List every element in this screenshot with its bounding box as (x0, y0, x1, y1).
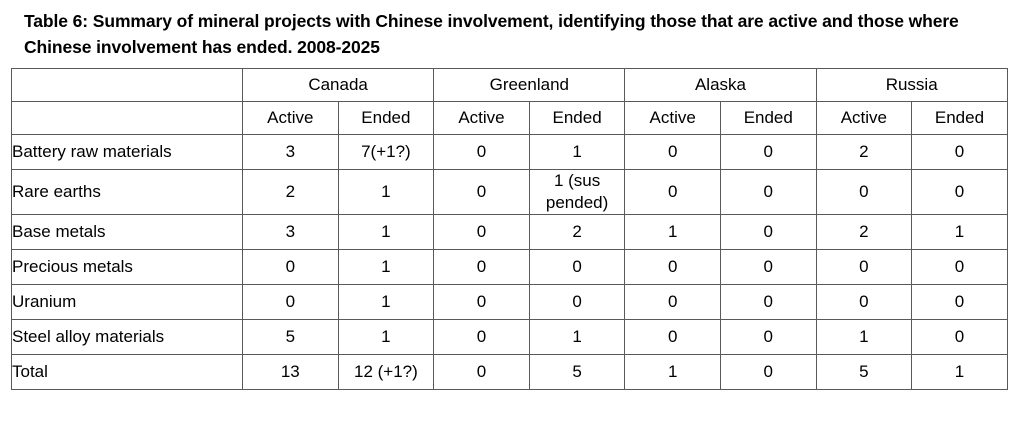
table-row: Base metals 3 1 0 2 1 0 2 1 (12, 215, 1008, 250)
cell-value: 1 (625, 361, 720, 383)
cell-value: 0 (434, 326, 529, 348)
cell-value: 0 (434, 181, 529, 203)
cell-value: 0 (817, 181, 912, 203)
cell-preciousmetals-canada-active: 0 (243, 250, 339, 285)
cell-uranium-canada-active: 0 (243, 285, 339, 320)
cell-battery-greenland-active: 0 (434, 135, 530, 170)
cell-value: 1 (912, 221, 1007, 243)
cell-value: 1 (625, 221, 720, 243)
cell-value: 1 (339, 291, 434, 313)
header-greenland-active: Active (434, 102, 530, 135)
cell-value: 0 (912, 181, 1007, 203)
cell-value: 0 (721, 291, 816, 313)
cell-value: 5 (530, 361, 625, 383)
cell-uranium-alaska-active: 0 (625, 285, 721, 320)
cell-value: 0 (817, 291, 912, 313)
cell-value: 0 (721, 221, 816, 243)
cell-preciousmetals-greenland-ended: 0 (529, 250, 625, 285)
header-region-canada: Canada (243, 69, 434, 102)
cell-value: 0 (625, 256, 720, 278)
cell-value: 1 (530, 326, 625, 348)
cell-value: 13 (243, 361, 338, 383)
header-alaska-active: Active (625, 102, 721, 135)
cell-uranium-alaska-ended: 0 (720, 285, 816, 320)
cell-basemetals-russia-active: 2 (816, 215, 912, 250)
header-corner-bottom (12, 102, 243, 135)
cell-value: 2 (817, 141, 912, 163)
cell-total-alaska-ended: 0 (720, 355, 816, 390)
cell-value: 3 (243, 221, 338, 243)
cell-steelalloy-greenland-ended: 1 (529, 320, 625, 355)
header-canada-ended: Ended (338, 102, 434, 135)
cell-value: 1 (sus pended) (530, 170, 625, 214)
cell-value: 0 (434, 256, 529, 278)
cell-basemetals-russia-ended: 1 (912, 215, 1008, 250)
cell-steelalloy-greenland-active: 0 (434, 320, 530, 355)
cell-preciousmetals-alaska-active: 0 (625, 250, 721, 285)
cell-rareearths-russia-ended: 0 (912, 170, 1008, 215)
cell-basemetals-alaska-ended: 0 (720, 215, 816, 250)
cell-value: 0 (434, 141, 529, 163)
cell-steelalloy-alaska-ended: 0 (720, 320, 816, 355)
cell-uranium-canada-ended: 1 (338, 285, 434, 320)
cell-total-russia-active: 5 (816, 355, 912, 390)
header-alaska-ended: Ended (720, 102, 816, 135)
row-label-total: Total (12, 355, 243, 390)
cell-value: 2 (530, 221, 625, 243)
cell-value: 0 (721, 361, 816, 383)
header-region-greenland: Greenland (434, 69, 625, 102)
cell-value: 0 (530, 256, 625, 278)
cell-value: 0 (243, 256, 338, 278)
cell-uranium-greenland-ended: 0 (529, 285, 625, 320)
table-row: Uranium 0 1 0 0 0 0 0 0 (12, 285, 1008, 320)
cell-value: 0 (625, 326, 720, 348)
cell-value: 0 (912, 141, 1007, 163)
table-row: Battery raw materials 3 7(+1?) 0 1 0 0 2… (12, 135, 1008, 170)
cell-total-canada-ended: 12 (+1?) (338, 355, 434, 390)
header-corner-top (12, 69, 243, 102)
cell-value: 0 (530, 291, 625, 313)
row-label-rare-earths: Rare earths (12, 170, 243, 215)
cell-value: 0 (912, 326, 1007, 348)
cell-battery-canada-active: 3 (243, 135, 339, 170)
cell-rareearths-canada-ended: 1 (338, 170, 434, 215)
cell-value: 5 (243, 326, 338, 348)
cell-value: 1 (912, 361, 1007, 383)
cell-value: 0 (434, 361, 529, 383)
header-russia-ended: Ended (912, 102, 1008, 135)
cell-value: 1 (339, 221, 434, 243)
cell-uranium-greenland-active: 0 (434, 285, 530, 320)
cell-steelalloy-russia-active: 1 (816, 320, 912, 355)
cell-total-greenland-active: 0 (434, 355, 530, 390)
cell-value: 0 (243, 291, 338, 313)
cell-rareearths-alaska-active: 0 (625, 170, 721, 215)
cell-rareearths-canada-active: 2 (243, 170, 339, 215)
cell-value: 1 (530, 141, 625, 163)
table-page: Table 6: Summary of mineral projects wit… (0, 0, 1024, 425)
cell-preciousmetals-russia-active: 0 (816, 250, 912, 285)
cell-total-russia-ended: 1 (912, 355, 1008, 390)
row-label-steel-alloy-materials: Steel alloy materials (12, 320, 243, 355)
cell-value: 0 (625, 181, 720, 203)
cell-value: 2 (817, 221, 912, 243)
cell-value: 0 (817, 256, 912, 278)
table-container: Canada Greenland Alaska Russia Active En… (11, 68, 1007, 390)
cell-rareearths-greenland-ended: 1 (sus pended) (529, 170, 625, 215)
cell-value: 0 (721, 181, 816, 203)
table-row: Rare earths 2 1 0 1 (sus pended) 0 0 0 0 (12, 170, 1008, 215)
cell-battery-greenland-ended: 1 (529, 135, 625, 170)
cell-value: 0 (721, 256, 816, 278)
cell-value: 0 (625, 291, 720, 313)
cell-value: 0 (434, 221, 529, 243)
table-row: Steel alloy materials 5 1 0 1 0 0 1 0 (12, 320, 1008, 355)
cell-basemetals-alaska-active: 1 (625, 215, 721, 250)
cell-preciousmetals-russia-ended: 0 (912, 250, 1008, 285)
table-row: Precious metals 0 1 0 0 0 0 0 0 (12, 250, 1008, 285)
cell-steelalloy-canada-active: 5 (243, 320, 339, 355)
cell-value: 0 (625, 141, 720, 163)
row-label-uranium: Uranium (12, 285, 243, 320)
cell-basemetals-canada-active: 3 (243, 215, 339, 250)
cell-value: 1 (339, 256, 434, 278)
cell-value: 0 (721, 326, 816, 348)
cell-value: 1 (339, 326, 434, 348)
cell-value: 0 (912, 256, 1007, 278)
table-row-total: Total 13 12 (+1?) 0 5 1 0 5 1 (12, 355, 1008, 390)
cell-value: 3 (243, 141, 338, 163)
cell-battery-alaska-active: 0 (625, 135, 721, 170)
header-russia-active: Active (816, 102, 912, 135)
row-label-base-metals: Base metals (12, 215, 243, 250)
table-body: Battery raw materials 3 7(+1?) 0 1 0 0 2… (12, 135, 1008, 390)
cell-value: 0 (434, 291, 529, 313)
cell-value: 0 (912, 291, 1007, 313)
cell-rareearths-russia-active: 0 (816, 170, 912, 215)
cell-value: 0 (721, 141, 816, 163)
header-row-regions: Canada Greenland Alaska Russia (12, 69, 1008, 102)
cell-value: 7(+1?) (339, 141, 434, 163)
cell-steelalloy-russia-ended: 0 (912, 320, 1008, 355)
cell-value: 1 (817, 326, 912, 348)
cell-battery-canada-ended: 7(+1?) (338, 135, 434, 170)
cell-uranium-russia-active: 0 (816, 285, 912, 320)
cell-steelalloy-canada-ended: 1 (338, 320, 434, 355)
cell-value: 5 (817, 361, 912, 383)
header-row-status: Active Ended Active Ended Active Ended A… (12, 102, 1008, 135)
cell-total-greenland-ended: 5 (529, 355, 625, 390)
cell-preciousmetals-canada-ended: 1 (338, 250, 434, 285)
header-region-alaska: Alaska (625, 69, 816, 102)
header-greenland-ended: Ended (529, 102, 625, 135)
cell-preciousmetals-greenland-active: 0 (434, 250, 530, 285)
row-label-precious-metals: Precious metals (12, 250, 243, 285)
cell-basemetals-greenland-ended: 2 (529, 215, 625, 250)
cell-battery-alaska-ended: 0 (720, 135, 816, 170)
cell-uranium-russia-ended: 0 (912, 285, 1008, 320)
cell-basemetals-greenland-active: 0 (434, 215, 530, 250)
cell-value: 12 (+1?) (339, 361, 434, 383)
cell-total-canada-active: 13 (243, 355, 339, 390)
cell-steelalloy-alaska-active: 0 (625, 320, 721, 355)
header-canada-active: Active (243, 102, 339, 135)
table-head: Canada Greenland Alaska Russia Active En… (12, 69, 1008, 135)
cell-basemetals-canada-ended: 1 (338, 215, 434, 250)
cell-total-alaska-active: 1 (625, 355, 721, 390)
cell-battery-russia-active: 2 (816, 135, 912, 170)
cell-rareearths-alaska-ended: 0 (720, 170, 816, 215)
mineral-projects-table: Canada Greenland Alaska Russia Active En… (11, 68, 1008, 390)
cell-value: 1 (339, 181, 434, 203)
header-region-russia: Russia (816, 69, 1007, 102)
cell-rareearths-greenland-active: 0 (434, 170, 530, 215)
cell-battery-russia-ended: 0 (912, 135, 1008, 170)
table-caption: Table 6: Summary of mineral projects wit… (24, 8, 1004, 60)
cell-preciousmetals-alaska-ended: 0 (720, 250, 816, 285)
cell-value: 2 (243, 181, 338, 203)
row-label-battery-raw-materials: Battery raw materials (12, 135, 243, 170)
